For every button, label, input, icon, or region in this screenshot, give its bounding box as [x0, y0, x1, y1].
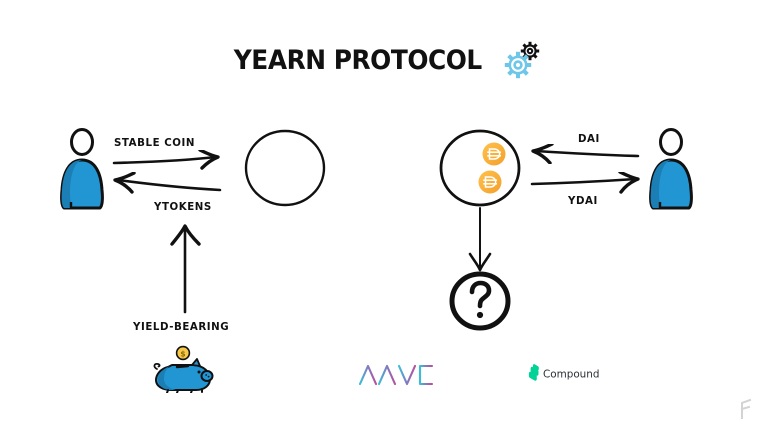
- watermark-logo-icon: [736, 398, 756, 420]
- compound-logo-icon: Compound: [528, 364, 602, 382]
- page-title-text: YEARN PROTOCOL: [234, 45, 482, 76]
- question-mark-icon: [448, 270, 512, 332]
- person-icon-left: [56, 128, 108, 210]
- arrow-left-ytokens-icon: [112, 172, 222, 194]
- arrow-up-yield-icon: [168, 222, 202, 314]
- vault-circle-icon: [438, 128, 522, 208]
- empty-circle-icon: [243, 128, 327, 208]
- dai-coin-icon-2: [478, 170, 502, 194]
- page-title: YEARN PROTOCOL: [0, 40, 768, 80]
- arrow-left-dai-icon: [530, 144, 640, 164]
- svg-text:Compound: Compound: [543, 368, 599, 380]
- arrow-right-stable-coin-icon: [112, 150, 222, 170]
- yield-bearing-label: YIELD-BEARING: [133, 320, 229, 333]
- gears-icon: [501, 40, 545, 80]
- svg-text:$: $: [180, 349, 185, 358]
- ydai-label: YDAI: [568, 194, 598, 207]
- arrow-right-ydai-icon: [530, 172, 642, 194]
- dai-coin-icon-1: [482, 142, 506, 166]
- stable-coin-label: STABLE COIN: [114, 136, 195, 149]
- piggy-bank-icon: $: [152, 345, 214, 393]
- ytokens-label: YTOKENS: [154, 200, 212, 213]
- aave-logo-icon: [358, 362, 434, 388]
- person-icon-right: [645, 128, 697, 210]
- arrow-down-unknown-icon: [464, 206, 496, 274]
- diagram-canvas: YEARN PROTOCOL: [0, 0, 768, 432]
